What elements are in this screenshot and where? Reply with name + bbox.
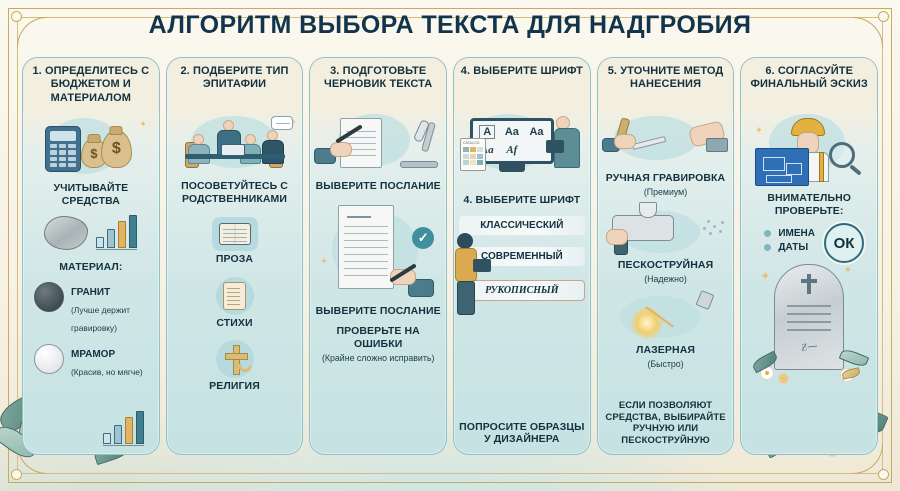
marble-swatch-icon: [34, 344, 64, 374]
material-name-granite: ГРАНИТ: [71, 287, 110, 298]
scroll-icon: [216, 277, 254, 315]
engraved-signature: Ƶ⁓: [801, 341, 818, 354]
step-3-body: ВЫВЕРИТЕ ПОСЛАНИЕ ✦ ✓ ВЫВЕРИТЕ ПОСЛАНИЕ: [310, 110, 446, 454]
method-name-1: РУЧНАЯ ГРАВИРОВКА: [606, 172, 725, 185]
epitaph-option-label-proza: ПРОЗА: [216, 253, 253, 266]
method-note-2: (Надежно): [644, 274, 687, 284]
step-card-1[interactable]: 1. ОПРЕДЕЛИТЕСЬ С БЮДЖЕТОМ И МАТЕРИАЛОМ …: [22, 57, 160, 455]
money-bag-icon-large: $: [101, 130, 132, 168]
step-1-caption-2: МАТЕРИАЛ:: [59, 261, 122, 274]
step-1-body: ✦ $ $ УЧИТЫВАЙТЕ СРЕДСТВА МАТЕРИАЛ:: [23, 112, 159, 454]
font-sample-classic[interactable]: КЛАССИЧЕСКИЙ: [459, 216, 585, 235]
infographic-poster: АЛГОРИТМ ВЫБОРА ТЕКСТА ДЛЯ НАДГРОБИЯ 1. …: [0, 0, 900, 491]
family-meeting-at-table-icon: ✦: [171, 114, 299, 178]
frame-node-bottom-left: [11, 469, 22, 480]
step-3-note: (Крайне сложно исправить): [322, 353, 434, 363]
verification-checklist: ИМЕНА ДАТЫ ОК: [746, 225, 872, 256]
tombstone-with-cross-icon: ✦ ✦ ✦ Ƶ⁓: [754, 264, 864, 382]
stone-chip-icon: [44, 216, 88, 250]
cross-and-crescent-icon: [216, 340, 254, 378]
epitaph-option-proza[interactable]: ПРОЗА: [212, 217, 258, 266]
designer-at-monitor-with-font-samples-icon: A Aa Aa Aa Af CATALOG: [458, 114, 586, 184]
step-5-body: РУЧНАЯ ГРАВИРОВКА (Премиум) ПЕСКОСТРУЙНА…: [598, 110, 734, 454]
bar-chart-icon-bottom: [103, 412, 144, 446]
material-note-granite: (Лучше держит гравировку): [71, 305, 130, 333]
open-book-icon: [212, 217, 258, 251]
calculator-icon: [45, 126, 81, 172]
granite-chip-and-bar-chart-icon: [44, 216, 137, 250]
method-note-1: (Премиум): [644, 187, 687, 197]
step-5-footer: ЕСЛИ ПОЗВОЛЯЮТ СРЕДСТВА, ВЫБИРАЙТЕ РУЧНУ…: [603, 400, 729, 446]
poster-title-bar: АЛГОРИТМ ВЫБОРА ТЕКСТА ДЛЯ НАДГРОБИЯ: [0, 11, 900, 40]
step-card-6[interactable]: 6. СОГЛАСУЙТЕ ФИНАЛЬНЫЙ ЭСКИЗ ✦: [740, 57, 878, 455]
epitaph-option-label-stihi: СТИХИ: [216, 317, 252, 330]
hand-engraving-chisel-icon: [602, 114, 730, 170]
step-3-caption-3: ПРОВЕРЬТЕ НА ОШИБКИ: [315, 325, 441, 350]
designer-person-legs-icon: [457, 281, 475, 315]
step-2-caption-1: ПОСОВЕТУЙТЕСЬ С РОДСТВЕННИКАМИ: [172, 180, 298, 205]
bar-chart-icon-top: [96, 216, 137, 250]
tombstone-cross-icon: [801, 274, 817, 294]
bullet-dot-icon: [764, 230, 771, 237]
blueprint-icon: [755, 148, 809, 186]
catalog-sheet-icon: CATALOG: [460, 138, 486, 171]
laser-beam-icon: [604, 292, 728, 342]
step-4-header: 4. ВЫБЕРИТЕ ШРИФТ: [454, 58, 590, 110]
designer-tablet-icon: [473, 259, 491, 272]
tombstone-shape: Ƶ⁓: [774, 264, 844, 370]
microscope-icon: [398, 120, 438, 168]
step-4-caption-2: ПОПРОСИТЕ ОБРАЗЦЫ У ДИЗАЙНЕРА: [459, 421, 585, 446]
calculator-and-money-bags-icon: ✦ $ $: [29, 118, 153, 180]
step-6-body: ✦ ВНИМАТЕЛЬНО ПРОВЕРЬТЕ:: [741, 110, 877, 454]
checklist-label-names: ИМЕНА: [778, 228, 815, 239]
magnifier-icon: [829, 142, 855, 168]
font-samples-list: КЛАССИЧЕСКИЙ СОВРЕМЕННЫЙ РУКОПИСНЫЙ: [459, 215, 585, 268]
epitaph-option-religiya[interactable]: РЕЛИГИЯ: [209, 340, 260, 393]
designer-person-head-icon: [457, 233, 473, 249]
frame-node-bottom-right: [878, 469, 889, 480]
step-4-caption-1: 4. ВЫБЕРИТЕ ШРИФТ: [463, 194, 580, 207]
method-name-2: ПЕСКОСТРУЙНАЯ: [618, 259, 713, 272]
proofreading-document-with-checkmark-icon: ✦ ✓: [318, 203, 438, 299]
granite-swatch-icon: [34, 282, 64, 312]
step-2-body: ✦ ПОСОВЕТУЙТЕСЬ С РОДСТВЕННИКАМИ: [167, 110, 303, 454]
material-note-marble: (Красив, но мягче): [71, 367, 143, 377]
steps-container: 1. ОПРЕДЕЛИТЕСЬ С БЮДЖЕТОМ И МАТЕРИАЛОМ …: [22, 57, 878, 455]
step-3-caption-2: ВЫВЕРИТЕ ПОСЛАНИЕ: [316, 305, 441, 318]
step-6-caption-1: ВНИМАТЕЛЬНО ПРОВЕРЬТЕ:: [746, 192, 872, 217]
checkmark-icon: ✓: [412, 227, 434, 249]
step-6-header: 6. СОГЛАСУЙТЕ ФИНАЛЬНЫЙ ЭСКИЗ: [741, 58, 877, 110]
method-name-3: ЛАЗЕРНАЯ: [636, 344, 695, 357]
checklist-label-dates: ДАТЫ: [778, 242, 808, 253]
step-card-5[interactable]: 5. УТОЧНИТЕ МЕТОД НАНЕСЕНИЯ РУЧНАЯ ГРАВИ…: [597, 57, 735, 455]
ok-badge: ОК: [824, 223, 864, 263]
step-3-caption-1: ВЫВЕРИТЕ ПОСЛАНИЕ: [316, 180, 441, 193]
step-4-body: A Aa Aa Aa Af CATALOG: [454, 110, 590, 454]
step-card-2[interactable]: 2. ПОДБЕРИТЕ ТИП ЭПИТАФИИ ✦: [166, 57, 304, 455]
sandblasting-gun-icon: [604, 207, 728, 257]
step-3-header: 3. ПОДГОТОВЬТЕ ЧЕРНОВИК ТЕКСТА: [310, 58, 446, 110]
step-5-header: 5. УТОЧНИТЕ МЕТОД НАНЕСЕНИЯ: [598, 58, 734, 110]
step-card-3[interactable]: 3. ПОДГОТОВЬТЕ ЧЕРНОВИК ТЕКСТА ВЫВЕРИТЕ …: [309, 57, 447, 455]
page-title: АЛГОРИТМ ВЫБОРА ТЕКСТА ДЛЯ НАДГРОБИЯ: [0, 11, 900, 40]
step-2-header: 2. ПОДБЕРИТЕ ТИП ЭПИТАФИИ: [167, 58, 303, 110]
worker-with-blueprint-and-magnifier-icon: ✦: [747, 114, 871, 186]
material-name-marble: МРАМОР: [71, 349, 115, 360]
font-sample-handwritten[interactable]: РУКОПИСНЫЙ: [459, 280, 585, 301]
epitaph-option-stihi[interactable]: СТИХИ: [216, 277, 254, 330]
speech-bubble-icon: [271, 116, 293, 130]
step-card-4[interactable]: 4. ВЫБЕРИТЕ ШРИФТ A Aa Aa Aa Af: [453, 57, 591, 455]
bullet-dot-icon: [764, 244, 771, 251]
step-1-header: 1. ОПРЕДЕЛИТЕСЬ С БЮДЖЕТОМ И МАТЕРИАЛОМ: [23, 58, 159, 112]
material-row-granite: ГРАНИТ (Лучше держит гравировку): [28, 282, 154, 336]
method-note-3: (Быстро): [647, 359, 683, 369]
flower-icon-center: [778, 373, 789, 384]
polishing-sponge-icon: [706, 138, 728, 152]
step-1-caption-1: УЧИТЫВАЙТЕ СРЕДСТВА: [28, 182, 154, 207]
epitaph-option-label-religiya: РЕЛИГИЯ: [209, 380, 260, 393]
catalog-label: CATALOG: [463, 141, 480, 145]
material-row-marble: МРАМОР (Красив, но мягче): [28, 344, 154, 380]
hand-writing-with-microscope-icon: [314, 114, 442, 178]
